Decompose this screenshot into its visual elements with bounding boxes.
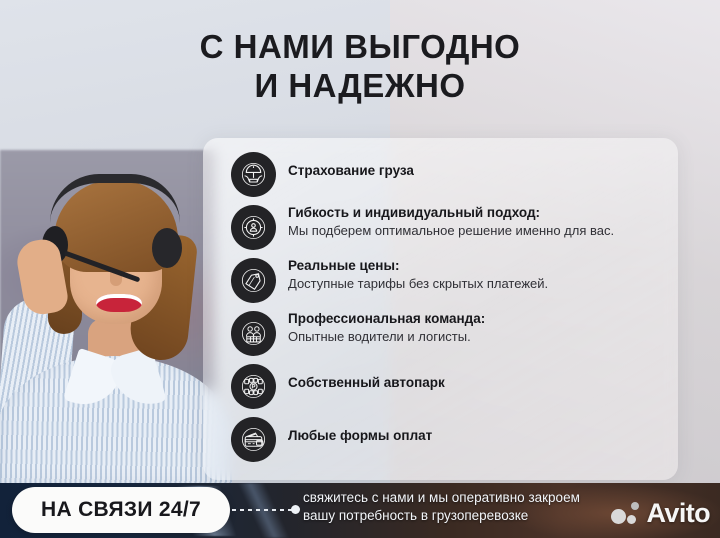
photo-mouth bbox=[96, 294, 142, 312]
connector-dot bbox=[291, 505, 300, 514]
operator-photo bbox=[0, 168, 232, 493]
price-tag-icon bbox=[231, 258, 276, 303]
headline-line-2: И НАДЕЖНО bbox=[120, 67, 600, 106]
headline: С НАМИ ВЫГОДНО И НАДЕЖНО bbox=[120, 28, 600, 106]
feature-title: Профессиональная команда: bbox=[288, 311, 668, 328]
feature-subtitle: Мы подберем оптимальное решение именно д… bbox=[288, 223, 668, 240]
feature-row: Любые формы оплат bbox=[231, 417, 671, 470]
wallet-card-icon bbox=[231, 417, 276, 462]
promo-banner: С НАМИ ВЫГОДНО И НАДЕЖНО Страхование гру… bbox=[0, 0, 720, 538]
avito-dots-icon bbox=[611, 502, 644, 526]
feature-title: Реальные цены: bbox=[288, 258, 668, 275]
feature-text: Профессиональная команда: Опытные водите… bbox=[288, 311, 668, 346]
cta-text: свяжитесь с нами и мы оперативно закроем… bbox=[303, 489, 603, 525]
cta-line-2: вашу потребность в грузоперевозке bbox=[303, 507, 603, 525]
umbrella-hands-icon bbox=[231, 152, 276, 197]
features-list: Страхование груза Гибкость и индивидуаль… bbox=[231, 152, 671, 470]
feature-title: Страхование груза bbox=[288, 163, 668, 180]
cta-line-1: свяжитесь с нами и мы оперативно закроем bbox=[303, 489, 603, 507]
availability-badge[interactable]: НА СВЯЗИ 24/7 bbox=[12, 487, 230, 533]
feature-row: Страхование груза bbox=[231, 152, 671, 205]
feature-text: Страхование груза bbox=[288, 163, 668, 180]
flexible-approach-icon bbox=[231, 205, 276, 250]
availability-badge-label: НА СВЯЗИ 24/7 bbox=[41, 498, 201, 522]
dashed-connector bbox=[232, 509, 294, 511]
feature-title: Гибкость и индивидуальный подход: bbox=[288, 205, 668, 222]
feature-subtitle: Опытные водители и логисты. bbox=[288, 329, 668, 346]
avito-logo: Avito bbox=[611, 500, 711, 527]
feature-text: Реальные цены: Доступные тарифы без скры… bbox=[288, 258, 668, 293]
truck-fleet-icon bbox=[231, 364, 276, 409]
avito-wordmark: Avito bbox=[647, 500, 711, 527]
headset-band-icon bbox=[50, 174, 180, 223]
feature-title: Собственный автопарк bbox=[288, 375, 668, 392]
feature-text: Собственный автопарк bbox=[288, 375, 668, 392]
headline-line-1: С НАМИ ВЫГОДНО bbox=[120, 28, 600, 67]
feature-row: Собственный автопарк bbox=[231, 364, 671, 417]
headset-earcup-right bbox=[152, 228, 182, 268]
feature-row: Профессиональная команда: Опытные водите… bbox=[231, 311, 671, 364]
feature-row: Реальные цены: Доступные тарифы без скры… bbox=[231, 258, 671, 311]
feature-text: Любые формы оплат bbox=[288, 428, 668, 445]
feature-title: Любые формы оплат bbox=[288, 428, 668, 445]
team-icon bbox=[231, 311, 276, 356]
feature-text: Гибкость и индивидуальный подход: Мы под… bbox=[288, 205, 668, 240]
feature-row: Гибкость и индивидуальный подход: Мы под… bbox=[231, 205, 671, 258]
feature-subtitle: Доступные тарифы без скрытых платежей. bbox=[288, 276, 668, 293]
